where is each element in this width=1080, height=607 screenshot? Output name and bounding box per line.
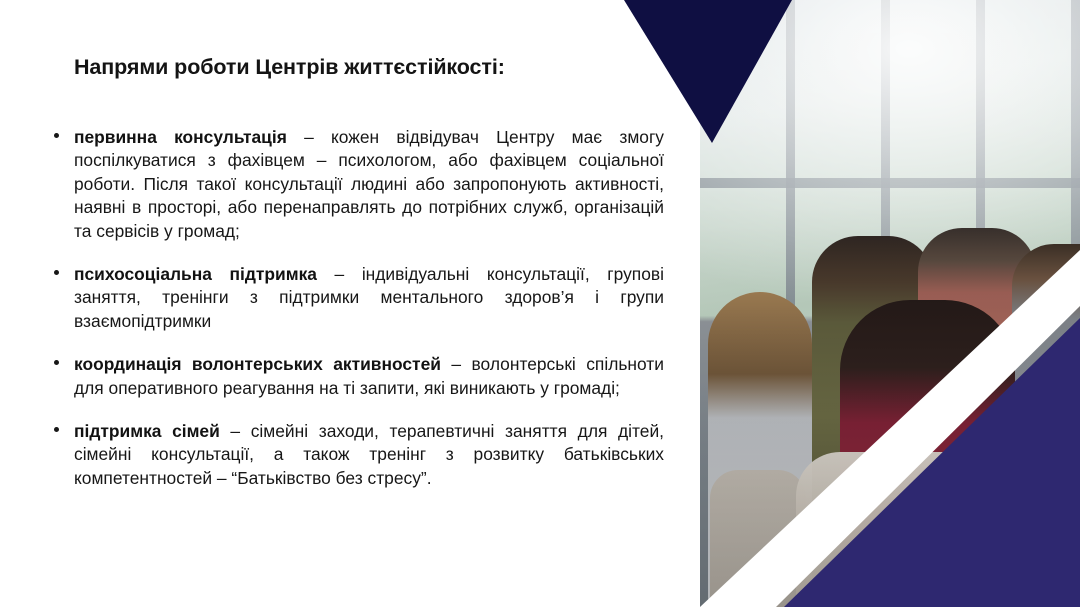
presentation-slide: Напрями роботи Центрів життєстійкості: п… bbox=[0, 0, 1080, 607]
page-title: Напрями роботи Центрів життєстійкості: bbox=[74, 55, 674, 81]
bullet-term: підтримка сімей bbox=[74, 421, 220, 441]
bullet-list: первинна консультація – кожен відвідувач… bbox=[48, 126, 664, 490]
bullet-dot-icon bbox=[54, 360, 59, 365]
list-item: координація волонтерських активностей – … bbox=[48, 353, 664, 400]
bullet-term: координація волонтерських активностей bbox=[74, 354, 441, 374]
list-item: підтримка сімей – сімейні заходи, терапе… bbox=[48, 420, 664, 490]
list-item: первинна консультація – кожен відвідувач… bbox=[48, 126, 664, 243]
bullet-dot-icon bbox=[54, 133, 59, 138]
list-item: психосоціальна підтримка – індивідуальні… bbox=[48, 263, 664, 333]
bullet-dot-icon bbox=[54, 270, 59, 275]
group-discussion-photo bbox=[700, 0, 1080, 607]
bullet-term: первинна консультація bbox=[74, 127, 287, 147]
photo-shading-overlay bbox=[700, 0, 1080, 607]
bullet-term: психосоціальна підтримка bbox=[74, 264, 317, 284]
slide-content: Напрями роботи Центрів життєстійкості: п… bbox=[0, 0, 690, 607]
bullet-dot-icon bbox=[54, 427, 59, 432]
